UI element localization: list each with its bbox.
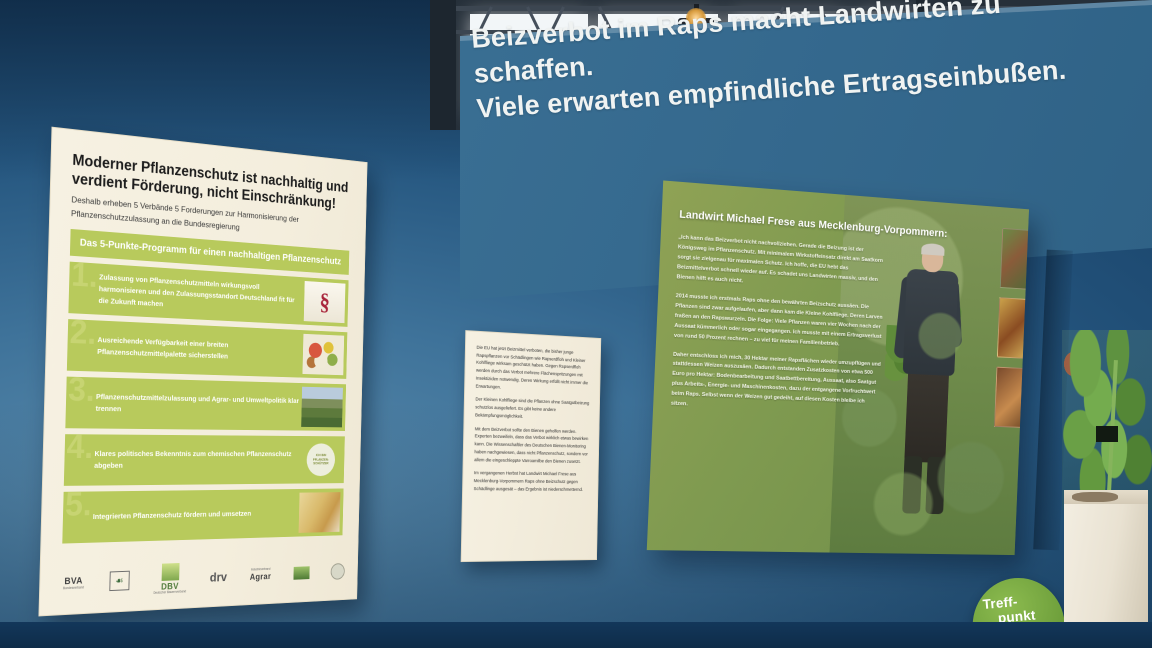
point-text: Zulassung von Pflanzenschutzmitteln wirk… [98,272,303,317]
field-landscape-thumbnail [301,387,343,428]
panel-farmer-testimonial[interactable]: Landwirt Michael Frese aus Mecklenburg-V… [647,180,1029,555]
program-point-5[interactable]: 5. Integrierten Pflanzenschutz fördern u… [62,488,343,543]
mid-paragraph-4: Im vergangenen Herbst hat Landwirt Micha… [474,469,588,493]
floor-strip [0,622,1152,648]
farmer-arm-left [893,275,916,358]
farmer-jacket [903,269,959,376]
point-text: Pflanzenschutzmittelzulassung und Agrar-… [96,391,301,417]
farmer-legs [904,370,949,463]
farmer-head [921,245,943,273]
inset-photo-pest [1000,228,1029,290]
exhibition-scene: 2 B Info Beizverbot im Raps macht Landwi… [0,0,1152,648]
round-badge-thumbnail: ICH BIN PFLANZEN- SCHÜTZER [300,440,342,480]
point-text: Ausreichende Verfügbarkeit einer breiten… [97,334,302,364]
point-number: 1. [71,262,98,293]
potted-plant [1062,330,1152,648]
mid-paragraph-2: Der Kleinen Kohlfliege sind die Pflanzen… [475,396,589,423]
plant-leaf-icon: ☙ [109,571,129,591]
logo-circular-seal [331,563,345,580]
logo-green-field [293,567,309,580]
paragraph-symbol-thumbnail: § [304,281,346,323]
badge-image: ICH BIN PFLANZEN- SCHÜTZER [300,440,342,480]
wheat-bread-image [299,492,341,533]
food-plate-image [302,334,344,375]
logo-bva: BVA Bundesverband [63,576,84,591]
point-text: Integrierten Pflanzenschutz fördern und … [93,508,252,523]
logo-bva-sub: Bundesverband [63,586,84,591]
mid-paragraph-1: Die EU hat jetzt Beizmittel verboten, di… [476,344,591,395]
farmer-arm-right [944,279,962,348]
program-points-list: 1. Zulassung von Pflanzenschutzmitteln w… [62,262,348,544]
logo-dbv-sub: Deutscher Bauernverband [153,591,186,596]
farmer-boot-left [902,456,922,514]
wheat-bread-thumbnail [299,492,341,533]
farmer-hair [921,243,945,256]
farmer-photo [878,243,975,532]
logo-agrar: Industrieverband Agrar [250,568,272,582]
testimonial-paragraph-3: Daher entschloss ich mich, 30 Hektar mei… [671,350,882,417]
program-point-3[interactable]: 3. Pflanzenschutzmittelzulassung und Agr… [65,377,346,431]
program-point-4[interactable]: 4. Klares politisches Bekenntnis zum che… [64,434,345,486]
rape-plant-small-icon [942,301,966,331]
logo-agrar-label: Agrar [250,572,272,582]
point-number: 5. [65,488,92,521]
farmer-boot-right [925,457,945,514]
paragraph-icon: § [304,281,346,323]
hall-column [430,0,456,130]
testimonial-paragraph-2: 2014 musste ich erstmals Raps ohne den b… [674,292,884,352]
badge-label: ICH BIN PFLANZEN- SCHÜTZER [306,443,335,476]
field-landscape-image [301,387,343,428]
point-text: Klares politisches Bekenntnis zum chemis… [94,448,299,471]
association-logos: BVA Bundesverband ☙ DBV Deutscher Bauern… [63,557,345,601]
point-number: 3. [68,377,95,407]
logo-drv: drv [210,570,227,585]
program-point-2[interactable]: 2. Ausreichende Verfügbarkeit einer brei… [67,319,347,379]
mid-paragraph-3: Mit dem Beizverbot sollte den Bienen geh… [474,425,589,465]
point-number: 4. [66,434,93,464]
plant-label-tag [1096,426,1118,442]
logo-dbv-mark [161,563,179,581]
plant-pot-soil [1072,492,1118,502]
logo-dbv: DBV Deutscher Bauernverband [153,563,186,596]
poster-five-point-program[interactable]: Moderner Pflanzenschutz ist nachhaltig u… [38,127,367,617]
testimonial-body: „Ich kann das Beizverbot nicht nachvollz… [670,234,886,427]
panel-explanatory-text[interactable]: Die EU hat jetzt Beizmittel verboten, di… [461,330,602,562]
point-number: 2. [69,319,96,350]
rape-plant-bundle-icon [884,325,933,390]
food-plate-thumbnail [302,334,344,375]
